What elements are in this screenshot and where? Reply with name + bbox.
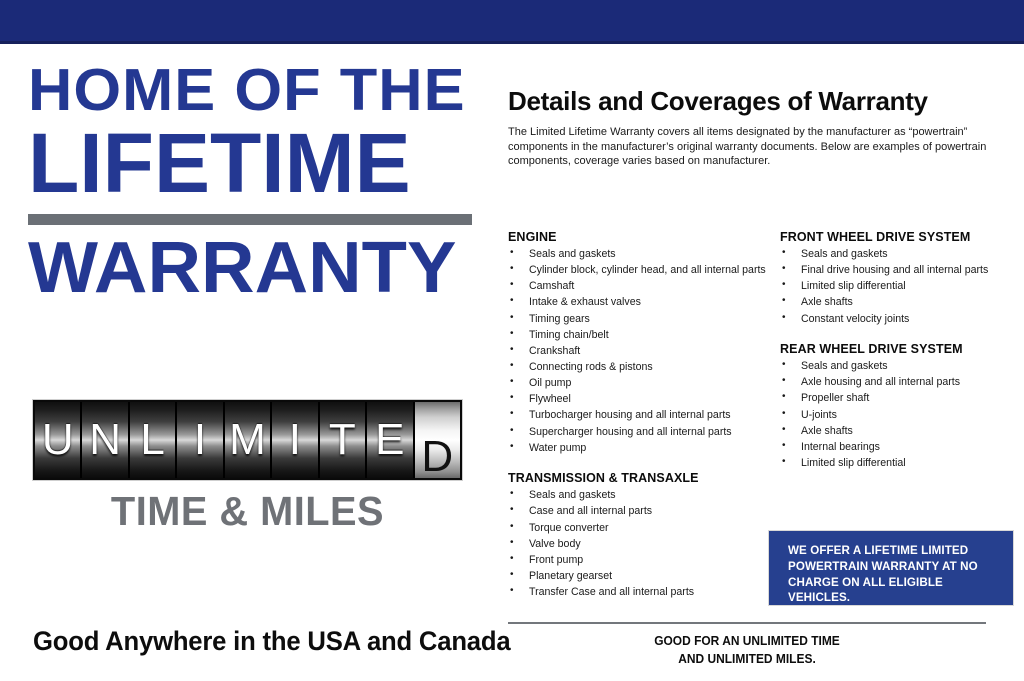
odometer-cell-letter: I: [272, 418, 317, 462]
list-item: Intake & exhaust valves: [508, 296, 770, 310]
headline-block: HOME OF THE LIFETIME WARRANTY: [28, 62, 476, 304]
coverage-group: ENGINESeals and gasketsCylinder block, c…: [508, 230, 770, 455]
right-footer-line-1: GOOD FOR AN UNLIMITED TIME: [527, 632, 967, 650]
odometer-cell-letter: N: [82, 418, 127, 462]
list-item: Seals and gaskets: [508, 248, 770, 262]
list-item: Crankshaft: [508, 345, 770, 359]
list-item: Valve body: [508, 538, 770, 552]
coverage-group: FRONT WHEEL DRIVE SYSTEMSeals and gasket…: [780, 230, 1014, 326]
list-item: Final drive housing and all internal par…: [780, 264, 1014, 278]
odometer-cell: N: [82, 402, 129, 478]
list-item: Planetary gearset: [508, 570, 770, 584]
list-item: Oil pump: [508, 377, 770, 391]
odometer-cell-letter: U: [35, 418, 80, 462]
list-item: Case and all internal parts: [508, 505, 770, 519]
coverage-group-title: ENGINE: [508, 230, 770, 244]
coverage-column-right: FRONT WHEEL DRIVE SYSTEMSeals and gasket…: [780, 230, 1014, 487]
odometer-caption: TIME & MILES: [39, 488, 455, 535]
odometer-graphic: UNLIMITED: [33, 400, 462, 480]
warranty-flyer: HOME OF THE LIFETIME WARRANTY UNLIMITED …: [0, 0, 1024, 681]
list-item: Seals and gaskets: [508, 489, 770, 503]
headline-divider: [28, 214, 472, 225]
list-item: Flywheel: [508, 393, 770, 407]
headline-line-3: WARRANTY: [28, 233, 489, 304]
odometer-cell-letter: I: [177, 418, 222, 462]
list-item: Seals and gaskets: [780, 248, 1014, 262]
top-brand-bar: [0, 0, 1024, 41]
odometer-cell: E: [367, 402, 414, 478]
list-item: Axle shafts: [780, 425, 1014, 439]
coverage-item-list: Seals and gasketsAxle housing and all in…: [780, 360, 1014, 470]
odometer-cell-letter: D: [415, 435, 460, 478]
odometer-cell: M: [225, 402, 272, 478]
list-item: Water pump: [508, 442, 770, 456]
headline-line-2: LIFETIME: [28, 122, 476, 204]
list-item: Limited slip differential: [780, 280, 1014, 294]
list-item: Turbocharger housing and all internal pa…: [508, 409, 770, 423]
list-item: Axle housing and all internal parts: [780, 376, 1014, 390]
list-item: Supercharger housing and all internal pa…: [508, 426, 770, 440]
list-item: Front pump: [508, 554, 770, 568]
list-item: Connecting rods & pistons: [508, 361, 770, 375]
list-item: Axle shafts: [780, 296, 1014, 310]
list-item: Cylinder block, cylinder head, and all i…: [508, 264, 770, 278]
right-footer-line-2: AND UNLIMITED MILES.: [527, 650, 967, 668]
intro-paragraph: The Limited Lifetime Warranty covers all…: [508, 125, 1002, 169]
coverage-column-left: ENGINESeals and gasketsCylinder block, c…: [508, 230, 770, 616]
list-item: Camshaft: [508, 280, 770, 294]
coverage-group-title: REAR WHEEL DRIVE SYSTEM: [780, 342, 1014, 356]
list-item: Propeller shaft: [780, 392, 1014, 406]
right-panel: Details and Coverages of Warranty The Li…: [496, 44, 1024, 681]
odometer-cell-letter: T: [320, 418, 365, 462]
list-item: Constant velocity joints: [780, 313, 1014, 327]
odometer-cell: T: [320, 402, 367, 478]
list-item: Limited slip differential: [780, 457, 1014, 471]
page-title: Details and Coverages of Warranty: [508, 86, 928, 117]
odometer-cell: I: [272, 402, 319, 478]
list-item: Timing chain/belt: [508, 329, 770, 343]
odometer-cell: L: [130, 402, 177, 478]
list-item: Seals and gaskets: [780, 360, 1014, 374]
coverage-group-title: TRANSMISSION & TRANSAXLE: [508, 471, 770, 485]
footer-divider: [508, 622, 986, 624]
promo-callout-box: WE OFFER A LIFETIME LIMITED POWERTRAIN W…: [768, 530, 1014, 606]
promo-callout-text: WE OFFER A LIFETIME LIMITED POWERTRAIN W…: [788, 543, 1005, 606]
headline-line-1: HOME OF THE: [28, 62, 494, 120]
coverage-group: REAR WHEEL DRIVE SYSTEMSeals and gaskets…: [780, 342, 1014, 470]
list-item: Torque converter: [508, 522, 770, 536]
coverage-item-list: Seals and gasketsFinal drive housing and…: [780, 248, 1014, 326]
coverage-item-list: Seals and gasketsCase and all internal p…: [508, 489, 770, 599]
list-item: Transfer Case and all internal parts: [508, 586, 770, 600]
odometer-cell: I: [177, 402, 224, 478]
odometer-cell: D: [415, 402, 460, 478]
odometer-cell-letter: L: [130, 418, 175, 462]
left-panel: HOME OF THE LIFETIME WARRANTY UNLIMITED …: [0, 44, 496, 681]
left-footer-text: Good Anywhere in the USA and Canada: [33, 626, 510, 657]
odometer-cell-letter: M: [225, 418, 270, 462]
coverage-group-title: FRONT WHEEL DRIVE SYSTEM: [780, 230, 1014, 244]
odometer-cell-letter: E: [367, 418, 412, 462]
coverage-group: TRANSMISSION & TRANSAXLESeals and gasket…: [508, 471, 770, 599]
list-item: Timing gears: [508, 313, 770, 327]
list-item: U-joints: [780, 409, 1014, 423]
coverage-item-list: Seals and gasketsCylinder block, cylinde…: [508, 248, 770, 455]
odometer-cell: U: [35, 402, 82, 478]
right-footer-text: GOOD FOR AN UNLIMITED TIME AND UNLIMITED…: [527, 632, 967, 668]
list-item: Internal bearings: [780, 441, 1014, 455]
